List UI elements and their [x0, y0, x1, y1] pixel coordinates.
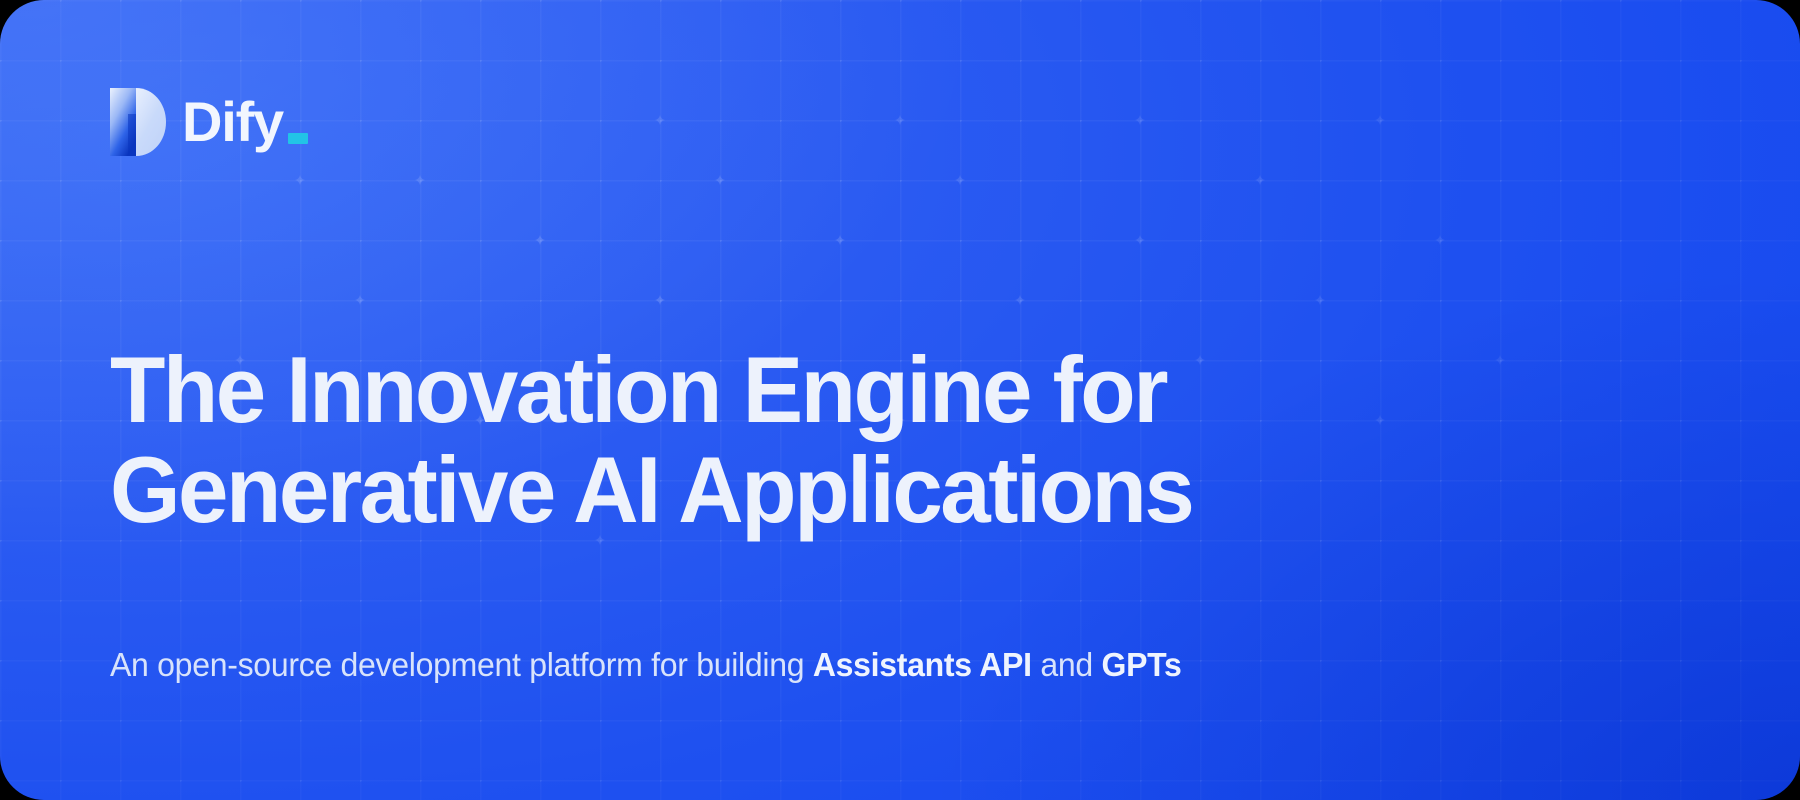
dify-logo[interactable]: Dify	[110, 88, 308, 156]
headline-line-2: Generative AI Applications	[110, 440, 1365, 540]
subtitle-lead: An open-source development platform for …	[110, 646, 813, 683]
subtitle-middle: and	[1032, 646, 1102, 683]
cyan-underscore-accent-icon	[288, 133, 308, 144]
dify-d-mark-icon	[110, 88, 166, 156]
page-title: The Innovation Engine for Generative AI …	[110, 340, 1410, 540]
subtitle-highlight-gpts: GPTs	[1101, 646, 1181, 683]
hero-banner: Dify The Innovation Engine for Generativ…	[0, 0, 1800, 800]
headline-line-1: The Innovation Engine for	[110, 340, 1365, 440]
hero-subtitle: An open-source development platform for …	[110, 645, 1182, 685]
dify-wordmark-text: Dify	[182, 94, 283, 150]
subtitle-highlight-assistants-api: Assistants API	[813, 646, 1032, 683]
dify-wordmark: Dify	[182, 94, 308, 150]
